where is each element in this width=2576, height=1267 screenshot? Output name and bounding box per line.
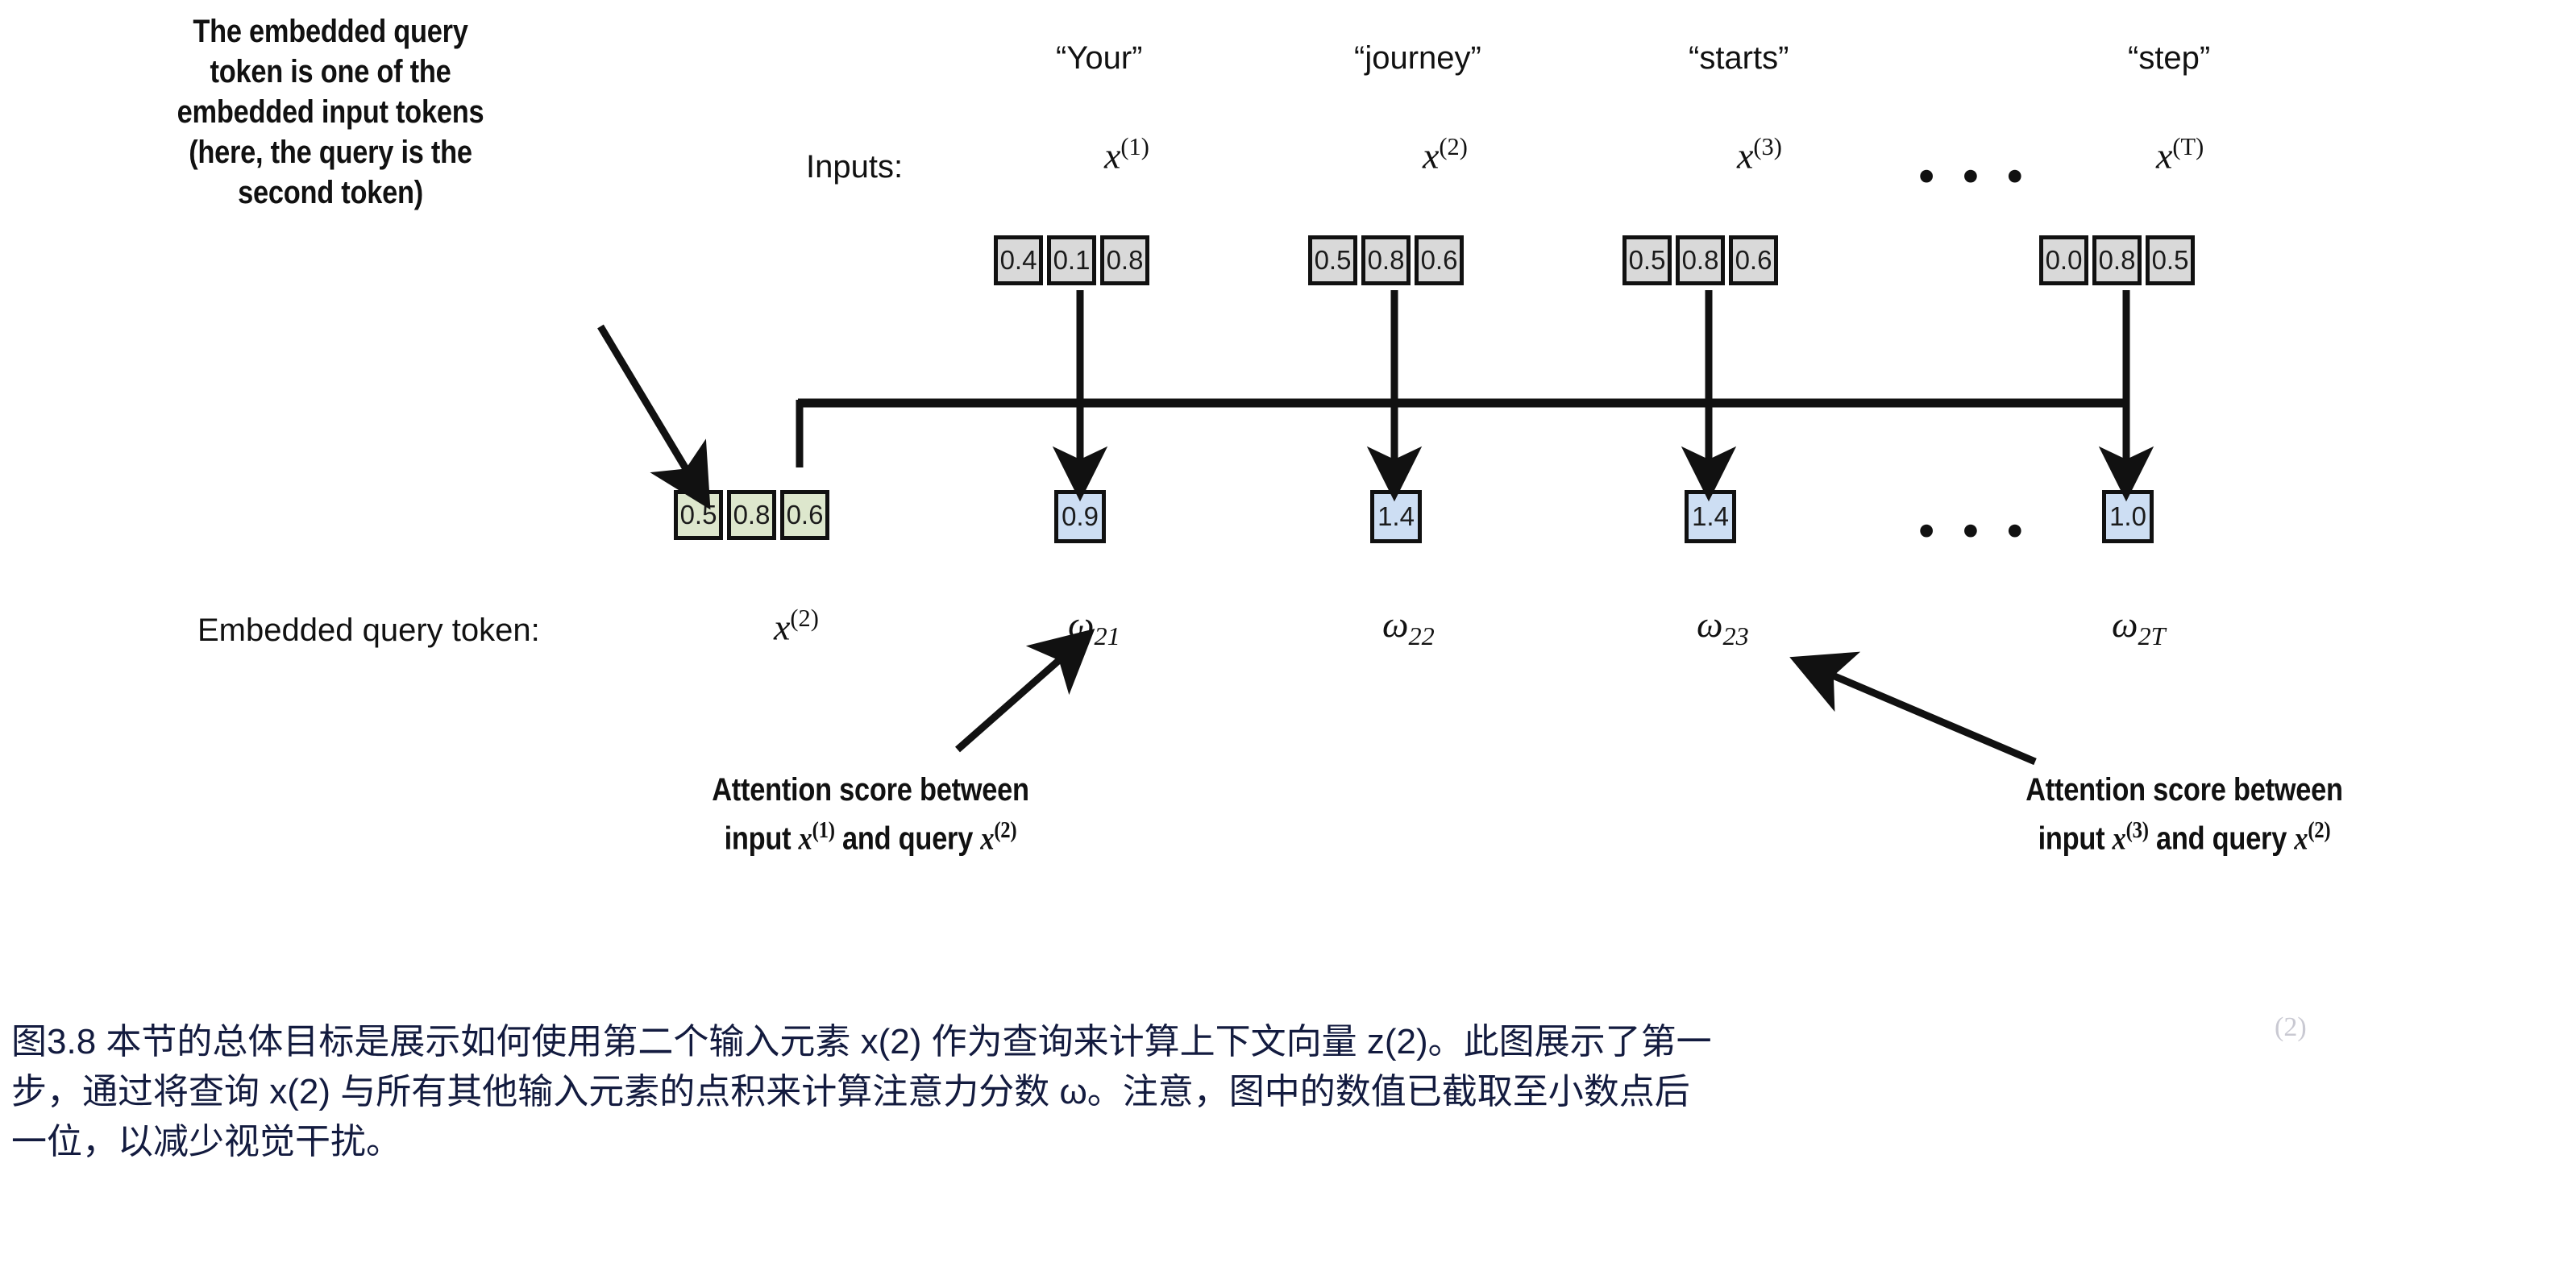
token-var-2-sup: (2) xyxy=(1439,133,1467,160)
query-cell: 0.5 xyxy=(674,490,723,540)
score-note-left-line-2: input x(1) and query x(2) xyxy=(586,810,1154,858)
score-note-right-pre: input xyxy=(2038,820,2113,856)
query-note-line-4: (here, the query is the xyxy=(88,132,573,172)
score-note-left-sup1: (1) xyxy=(812,817,835,843)
score-note-left-arrow xyxy=(958,649,1072,750)
query-note-callout: The embedded query token is one of the e… xyxy=(88,11,573,213)
omega-subscript: 23 xyxy=(1722,621,1748,650)
token-var-2-base: x xyxy=(1423,135,1439,176)
score-note-left-line-1: Attention score between xyxy=(586,770,1154,810)
inputs-label: Inputs: xyxy=(806,149,903,185)
query-note-line-5: second token) xyxy=(88,172,573,213)
token-var-2: x(2) xyxy=(1423,133,1468,177)
query-note-line-1: The embedded query xyxy=(88,11,573,52)
token-word-3: “starts” xyxy=(1689,40,1789,77)
score-note-left-var2: x xyxy=(980,820,994,856)
token-var-4: x(T) xyxy=(2156,133,2204,177)
input-vector-3: 0.5 0.8 0.6 xyxy=(1622,235,1778,285)
input-cell: 0.0 xyxy=(2039,235,2088,285)
token-var-1-base: x xyxy=(1104,135,1120,176)
query-token-var-sup: (2) xyxy=(790,604,818,632)
score-note-right-sup1: (3) xyxy=(2126,817,2149,843)
score-note-right-mid: and query xyxy=(2149,820,2295,856)
omega-label-3: ω23 xyxy=(1697,603,1749,651)
attention-score-box-4: 1.0 xyxy=(2102,490,2154,543)
attention-score-diagram: The embedded query token is one of the e… xyxy=(0,0,2576,1007)
score-note-left-mid: and query xyxy=(835,820,981,856)
query-note-line-2: token is one of the xyxy=(88,52,573,92)
input-cell: 0.5 xyxy=(1622,235,1672,285)
omega-label-4: ω2T xyxy=(2112,603,2165,651)
query-note-arrow xyxy=(600,326,695,484)
query-vector: 0.5 0.8 0.6 xyxy=(674,490,829,540)
score-row-ellipsis: • • • xyxy=(1918,504,2031,558)
omega-symbol: ω xyxy=(1382,604,1408,645)
score-note-left-sup2: (2) xyxy=(994,817,1016,843)
score-note-left-var1: x xyxy=(799,820,812,856)
input-cell: 0.8 xyxy=(1100,235,1149,285)
score-note-right-arrow xyxy=(1818,669,2035,762)
omega-label-2: ω22 xyxy=(1382,603,1435,651)
token-word-2: “journey” xyxy=(1354,40,1481,77)
token-var-3-sup: (3) xyxy=(1753,133,1781,160)
query-note-line-3: embedded input tokens xyxy=(88,92,573,132)
query-cell: 0.8 xyxy=(727,490,776,540)
attention-score-box-3: 1.4 xyxy=(1685,490,1736,543)
score-note-left-pre: input xyxy=(725,820,799,856)
caption-line-1: 图3.8 本节的总体目标是展示如何使用第二个输入元素 x(2) 作为查询来计算上… xyxy=(11,1017,2565,1067)
token-var-1-sup: (1) xyxy=(1120,133,1149,160)
token-var-1: x(1) xyxy=(1104,133,1149,177)
score-note-left-callout: Attention score between input x(1) and q… xyxy=(586,770,1154,858)
score-note-right-var1: x xyxy=(2113,820,2126,856)
score-note-right-var2: x xyxy=(2294,820,2308,856)
token-word-4: “step” xyxy=(2128,40,2210,77)
score-note-right-callout: Attention score between input x(3) and q… xyxy=(1900,770,2468,858)
input-cell: 0.6 xyxy=(1415,235,1464,285)
input-cell: 0.8 xyxy=(1361,235,1411,285)
embedded-query-token-label: Embedded query token: xyxy=(197,613,540,649)
input-cell: 0.8 xyxy=(1676,235,1725,285)
token-var-4-sup: (T) xyxy=(2172,133,2204,160)
figure-caption: 图3.8 本节的总体目标是展示如何使用第二个输入元素 x(2) 作为查询来计算上… xyxy=(11,1017,2565,1167)
token-var-4-base: x xyxy=(2156,135,2172,176)
token-var-3: x(3) xyxy=(1737,133,1782,177)
token-var-3-base: x xyxy=(1737,135,1753,176)
input-cell: 0.8 xyxy=(2092,235,2142,285)
caption-line-2: 步，通过将查询 x(2) 与所有其他输入元素的点积来计算注意力分数 ω。注意，图… xyxy=(11,1067,2565,1117)
input-vector-4: 0.0 0.8 0.5 xyxy=(2039,235,2195,285)
omega-symbol: ω xyxy=(1068,604,1094,645)
omega-subscript: 22 xyxy=(1408,621,1434,650)
input-vector-1: 0.4 0.1 0.8 xyxy=(994,235,1149,285)
score-note-right-sup2: (2) xyxy=(2308,817,2330,843)
input-vector-2: 0.5 0.8 0.6 xyxy=(1308,235,1464,285)
caption-line-3: 一位，以减少视觉干扰。 xyxy=(11,1117,2565,1167)
attention-score-box-1: 0.9 xyxy=(1054,490,1106,543)
input-row-ellipsis: • • • xyxy=(1918,149,2031,203)
omega-symbol: ω xyxy=(1697,604,1722,645)
input-cell: 0.4 xyxy=(994,235,1043,285)
omega-label-1: ω21 xyxy=(1068,603,1120,651)
score-note-right-line-1: Attention score between xyxy=(1900,770,2468,810)
omega-symbol: ω xyxy=(2112,604,2138,645)
input-cell: 0.5 xyxy=(2146,235,2195,285)
omega-subscript: 21 xyxy=(1094,621,1120,650)
omega-subscript: 2T xyxy=(2138,621,2165,650)
token-word-1: “Your” xyxy=(1056,40,1142,77)
input-cell: 0.6 xyxy=(1729,235,1778,285)
input-cell: 0.5 xyxy=(1308,235,1357,285)
query-token-var-base: x xyxy=(774,606,790,647)
attention-score-box-2: 1.4 xyxy=(1370,490,1422,543)
query-cell: 0.6 xyxy=(780,490,829,540)
score-note-right-line-2: input x(3) and query x(2) xyxy=(1900,810,2468,858)
query-token-var: x(2) xyxy=(774,604,819,648)
input-cell: 0.1 xyxy=(1047,235,1096,285)
